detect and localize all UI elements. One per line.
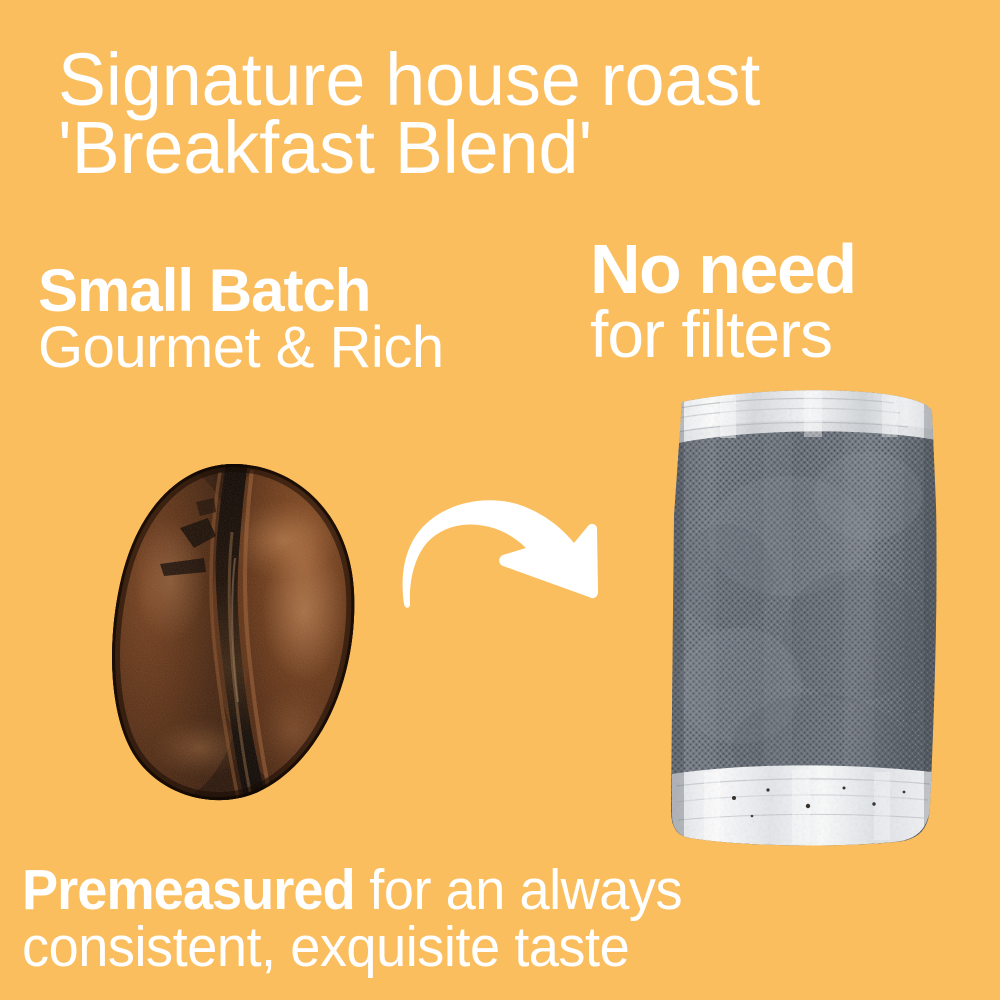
headline-line-1: Signature house roast — [58, 46, 760, 114]
headline-line-2: 'Breakfast Blend' — [58, 114, 760, 182]
feature-small-batch: Small Batch Gourmet & Rich — [38, 262, 444, 375]
page-title: Signature house roast 'Breakfast Blend' — [58, 46, 760, 182]
feature-no-filters-subtitle: for filters — [590, 303, 856, 366]
product-infographic-poster: Signature house roast 'Breakfast Blend' … — [0, 0, 1000, 1000]
caption-row-1: Premeasured for an always — [22, 862, 682, 919]
coffee-bean-image — [108, 462, 358, 804]
feature-no-filters: No need for filters — [590, 236, 856, 367]
curved-arrow-icon — [398, 496, 610, 614]
feature-small-batch-title: Small Batch — [38, 262, 444, 320]
feature-no-filters-title: No need — [590, 236, 856, 303]
bottom-caption: Premeasured for an always consistent, ex… — [22, 862, 682, 976]
caption-premeasured: Premeasured — [22, 858, 355, 922]
caption-row-1-rest: for an always — [355, 858, 682, 922]
coffee-filter-bag-image — [668, 386, 940, 848]
feature-small-batch-subtitle: Gourmet & Rich — [38, 320, 444, 376]
caption-row-2: consistent, exquisite taste — [22, 919, 682, 976]
